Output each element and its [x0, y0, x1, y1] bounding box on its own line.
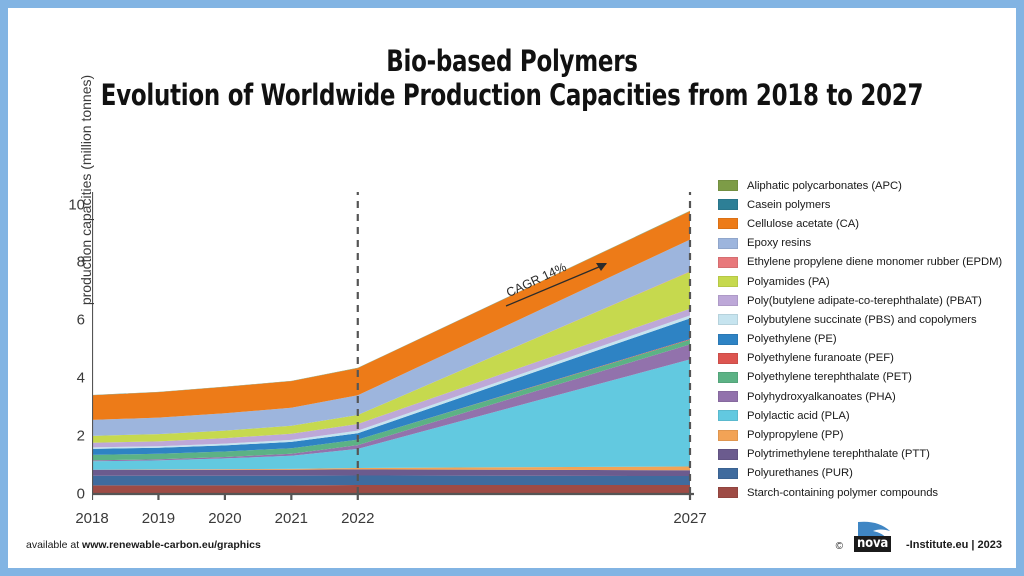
- stacked-area-chart: production capacities (million tonnes) 0…: [92, 186, 706, 502]
- legend-swatch: [718, 468, 738, 479]
- legend-swatch: [718, 430, 738, 441]
- footer-available-prefix: available at: [26, 539, 82, 551]
- legend-swatch: [718, 410, 738, 421]
- y-tick-label: 6: [55, 312, 85, 329]
- legend-swatch: [718, 199, 738, 210]
- nova-institute-logo: nova: [846, 520, 904, 554]
- legend-item[interactable]: Poly(butylene adipate-co-terephthalate) …: [718, 291, 1008, 310]
- legend-swatch: [718, 314, 738, 325]
- x-tick-label: 2018: [75, 510, 108, 527]
- legend-swatch: [718, 334, 738, 345]
- legend-item[interactable]: Polylactic acid (PLA): [718, 406, 1008, 425]
- legend-label: Polyhydroxyalkanoates (PHA): [747, 391, 896, 403]
- legend-label: Polytrimethylene terephthalate (PTT): [747, 448, 930, 460]
- legend-swatch: [718, 276, 738, 287]
- legend-swatch: [718, 449, 738, 460]
- y-axis-label: production capacities (million tonnes): [78, 30, 94, 350]
- legend-item[interactable]: Starch-containing polymer compounds: [718, 483, 1008, 502]
- legend-label: Poly(butylene adipate-co-terephthalate) …: [747, 295, 982, 307]
- chart-canvas: [92, 186, 706, 502]
- legend-item[interactable]: Cellulose acetate (CA): [718, 214, 1008, 233]
- legend-label: Aliphatic polycarbonates (APC): [747, 180, 902, 192]
- legend-swatch: [718, 238, 738, 249]
- legend-label: Ethylene propylene diene monomer rubber …: [747, 256, 1002, 268]
- legend-label: Polylactic acid (PLA): [747, 410, 850, 422]
- area-series: [92, 485, 690, 494]
- footer-available-url[interactable]: www.renewable-carbon.eu/graphics: [82, 539, 261, 551]
- legend-item[interactable]: Polyurethanes (PUR): [718, 464, 1008, 483]
- legend-label: Cellulose acetate (CA): [747, 218, 859, 230]
- legend-item[interactable]: Polyhydroxyalkanoates (PHA): [718, 387, 1008, 406]
- footer-credit: © nova -Institute.eu | 2023: [836, 520, 1002, 554]
- x-tick-label: 2027: [673, 510, 706, 527]
- footer-availability: available at www.renewable-carbon.eu/gra…: [26, 539, 261, 551]
- footer-institute-text: -Institute.eu | 2023: [906, 539, 1002, 551]
- legend-item[interactable]: Epoxy resins: [718, 234, 1008, 253]
- x-tick-label: 2019: [142, 510, 175, 527]
- legend-item[interactable]: Polytrimethylene terephthalate (PTT): [718, 445, 1008, 464]
- area-series: [92, 469, 690, 476]
- legend-item[interactable]: Polybutylene succinate (PBS) and copolym…: [718, 310, 1008, 329]
- legend-item[interactable]: Casein polymers: [718, 195, 1008, 214]
- poster-panel: Bio-based Polymers Evolution of Worldwid…: [8, 8, 1016, 568]
- legend-swatch: [718, 487, 738, 498]
- x-tick-label: 2020: [208, 510, 241, 527]
- legend-swatch: [718, 295, 738, 306]
- legend-label: Polyethylene (PE): [747, 333, 837, 345]
- y-tick-label: 10: [55, 196, 85, 213]
- legend-swatch: [718, 353, 738, 364]
- legend-item[interactable]: Polyethylene terephthalate (PET): [718, 368, 1008, 387]
- legend-swatch: [718, 257, 738, 268]
- x-tick-label: 2022: [341, 510, 374, 527]
- legend-item[interactable]: Polyethylene furanoate (PEF): [718, 349, 1008, 368]
- title-block: Bio-based Polymers Evolution of Worldwid…: [8, 44, 1016, 112]
- logo-wordmark: nova: [854, 536, 891, 552]
- legend-swatch: [718, 180, 738, 191]
- page-title: Bio-based Polymers: [68, 44, 955, 78]
- legend-label: Polyurethanes (PUR): [747, 467, 853, 479]
- legend-item[interactable]: Ethylene propylene diene monomer rubber …: [718, 253, 1008, 272]
- legend-label: Epoxy resins: [747, 237, 811, 249]
- legend-item[interactable]: Aliphatic polycarbonates (APC): [718, 176, 1008, 195]
- legend-swatch: [718, 391, 738, 402]
- y-tick-label: 2: [55, 428, 85, 445]
- legend-label: Casein polymers: [747, 199, 830, 211]
- legend-label: Polypropylene (PP): [747, 429, 843, 441]
- y-tick-label: 0: [55, 486, 85, 503]
- legend-item[interactable]: Polyamides (PA): [718, 272, 1008, 291]
- area-series: [92, 475, 690, 485]
- page-subtitle: Evolution of Worldwide Production Capaci…: [68, 78, 955, 112]
- copyright-icon: ©: [836, 541, 843, 552]
- legend-item[interactable]: Polypropylene (PP): [718, 425, 1008, 444]
- legend-swatch: [718, 372, 738, 383]
- legend-swatch: [718, 218, 738, 229]
- legend-label: Polyethylene furanoate (PEF): [747, 352, 894, 364]
- y-tick-label: 4: [55, 370, 85, 387]
- x-tick-label: 2021: [275, 510, 308, 527]
- legend-label: Starch-containing polymer compounds: [747, 487, 938, 499]
- legend-label: Polyethylene terephthalate (PET): [747, 371, 912, 383]
- legend-label: Polybutylene succinate (PBS) and copolym…: [747, 314, 977, 326]
- y-tick-label: 8: [55, 254, 85, 271]
- legend-item[interactable]: Polyethylene (PE): [718, 330, 1008, 349]
- legend-label: Polyamides (PA): [747, 276, 830, 288]
- chart-legend: Aliphatic polycarbonates (APC)Casein pol…: [718, 176, 1008, 502]
